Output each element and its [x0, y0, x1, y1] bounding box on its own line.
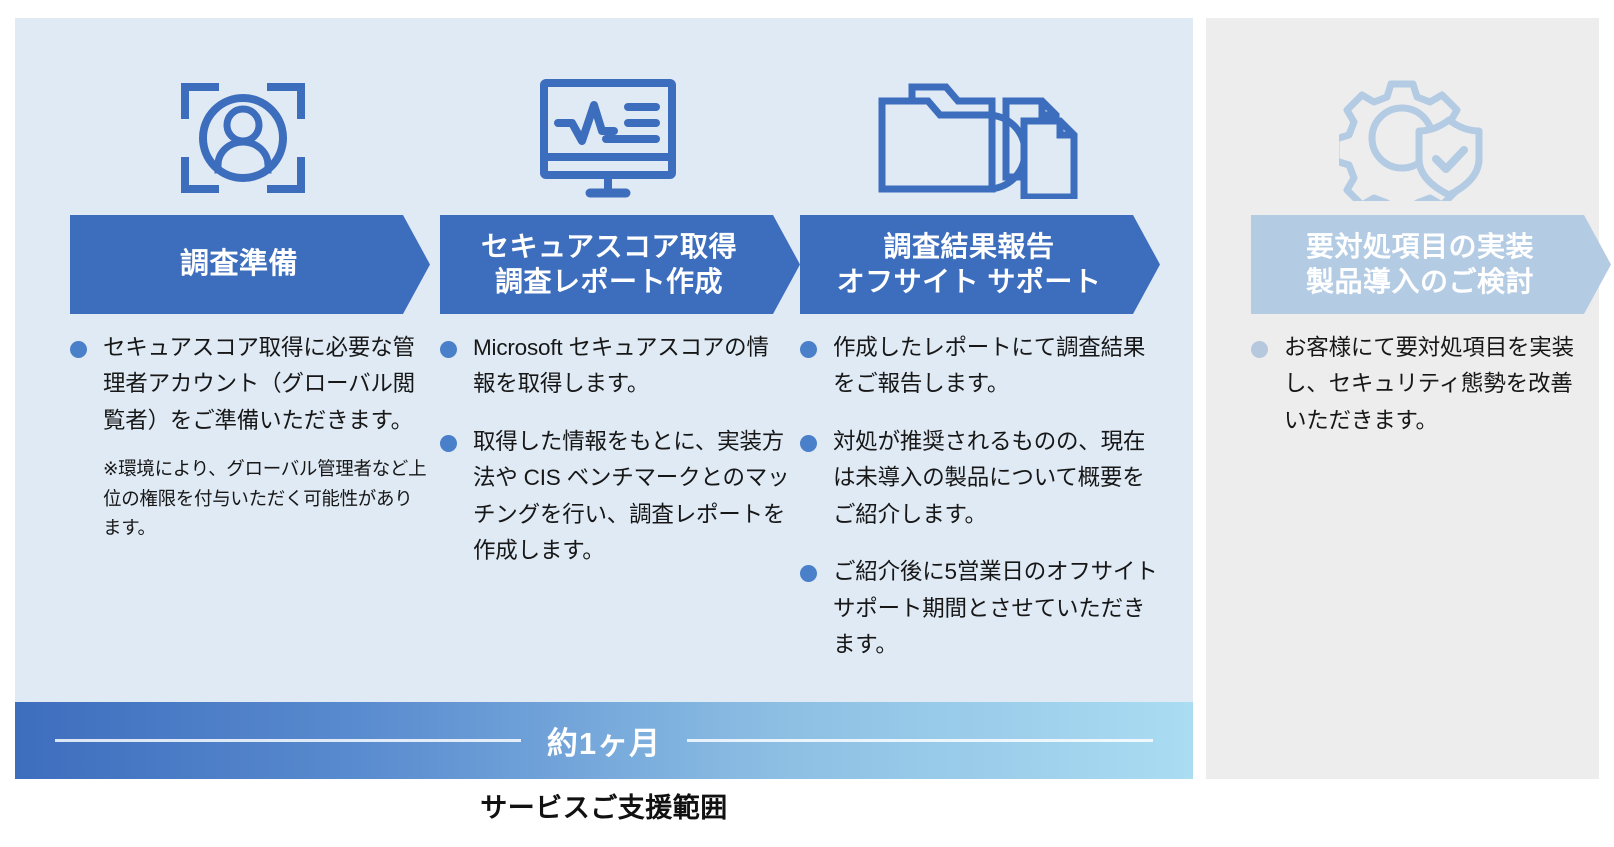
gear-shield-check-icon	[1236, 58, 1591, 218]
list-item: セキュアスコア取得に必要な管理者アカウント（グローバル閲覧者）をご準備いただきま…	[67, 330, 430, 439]
person-scan-icon	[55, 58, 430, 218]
duration-bar: 約1ヶ月	[15, 702, 1193, 779]
bullet-text: 取得した情報をもとに、実装方法や CIS ベンチマークとのマッチングを行い、調査…	[473, 429, 789, 563]
bullet-dot-icon	[800, 435, 817, 452]
phase-note-1: ※環境により、グローバル管理者など上位の権限を付与いただく可能性があります。	[67, 454, 430, 542]
duration-label: 約1ヶ月	[547, 718, 661, 763]
folder-documents-icon	[785, 58, 1160, 218]
bullet-dot-icon	[800, 565, 817, 582]
phase-banner-1: 調査準備	[70, 215, 430, 314]
service-scope-panel: 調査準備 セキュアスコア取得に必要な管理者アカウント（グローバル閲覧者）をご準備…	[15, 18, 1193, 779]
bullet-dot-icon	[800, 341, 817, 358]
bullet-text: セキュアスコア取得に必要な管理者アカウント（グローバル閲覧者）をご準備いただきま…	[103, 335, 415, 433]
phase-banner-4: 要対処項目の実装 製品導入のご検討	[1251, 215, 1611, 314]
bullet-dot-icon	[1251, 341, 1268, 358]
bullet-dot-icon	[70, 341, 87, 358]
bullet-dot-icon	[440, 341, 457, 358]
list-item: Microsoft セキュアスコアの情報を取得します。	[437, 330, 790, 403]
phase-bullet-list-3: 作成したレポートにて調査結果をご報告します。 対処が推奨されるものの、現在は未導…	[797, 330, 1160, 685]
bullet-text: 対処が推奨されるものの、現在は未導入の製品について概要をご紹介します。	[833, 429, 1145, 527]
phase-bullet-list-2: Microsoft セキュアスコアの情報を取得します。 取得した情報をもとに、実…	[437, 330, 790, 591]
phase-banner-label-4: 要対処項目の実装 製品導入のご検討	[1306, 230, 1534, 299]
phase-bullet-list-4: お客様にて要対処項目を実装し、セキュリティ態勢を改善いただきます。	[1248, 330, 1591, 460]
phase-bullet-list-1: セキュアスコア取得に必要な管理者アカウント（グローバル閲覧者）をご準備いただきま…	[67, 330, 430, 542]
phase-banner-2: セキュアスコア取得 調査レポート作成	[440, 215, 800, 314]
duration-rule-right	[687, 739, 1153, 742]
phase-banner-3: 調査結果報告 オフサイト サポート	[800, 215, 1160, 314]
bullet-text: ご紹介後に5営業日のオフサイト サポート期間とさせていただきます。	[833, 559, 1158, 657]
bullet-text: 作成したレポートにて調査結果をご報告します。	[833, 335, 1145, 396]
monitor-report-icon	[425, 58, 790, 218]
phase-banner-label-3: 調査結果報告 オフサイト サポート	[837, 230, 1102, 299]
page-caption: サービスご支援範囲	[15, 786, 1193, 825]
list-item: お客様にて要対処項目を実装し、セキュリティ態勢を改善いただきます。	[1248, 330, 1591, 439]
customer-action-panel: 要対処項目の実装 製品導入のご検討 お客様にて要対処項目を実装し、セキュリティ態…	[1206, 18, 1599, 779]
list-item: 対処が推奨されるものの、現在は未導入の製品について概要をご紹介します。	[797, 424, 1160, 533]
list-item: 作成したレポートにて調査結果をご報告します。	[797, 330, 1160, 403]
bullet-text: お客様にて要対処項目を実装し、セキュリティ態勢を改善いただきます。	[1284, 335, 1574, 433]
list-item: ご紹介後に5営業日のオフサイト サポート期間とさせていただきます。	[797, 554, 1160, 663]
phase-banner-label-1: 調査準備	[180, 247, 298, 283]
duration-rule-left	[55, 739, 521, 742]
bullet-dot-icon	[440, 435, 457, 452]
bullet-text: Microsoft セキュアスコアの情報を取得します。	[473, 335, 769, 396]
phase-banner-label-2: セキュアスコア取得 調査レポート作成	[481, 230, 737, 299]
list-item: 取得した情報をもとに、実装方法や CIS ベンチマークとのマッチングを行い、調査…	[437, 424, 790, 570]
